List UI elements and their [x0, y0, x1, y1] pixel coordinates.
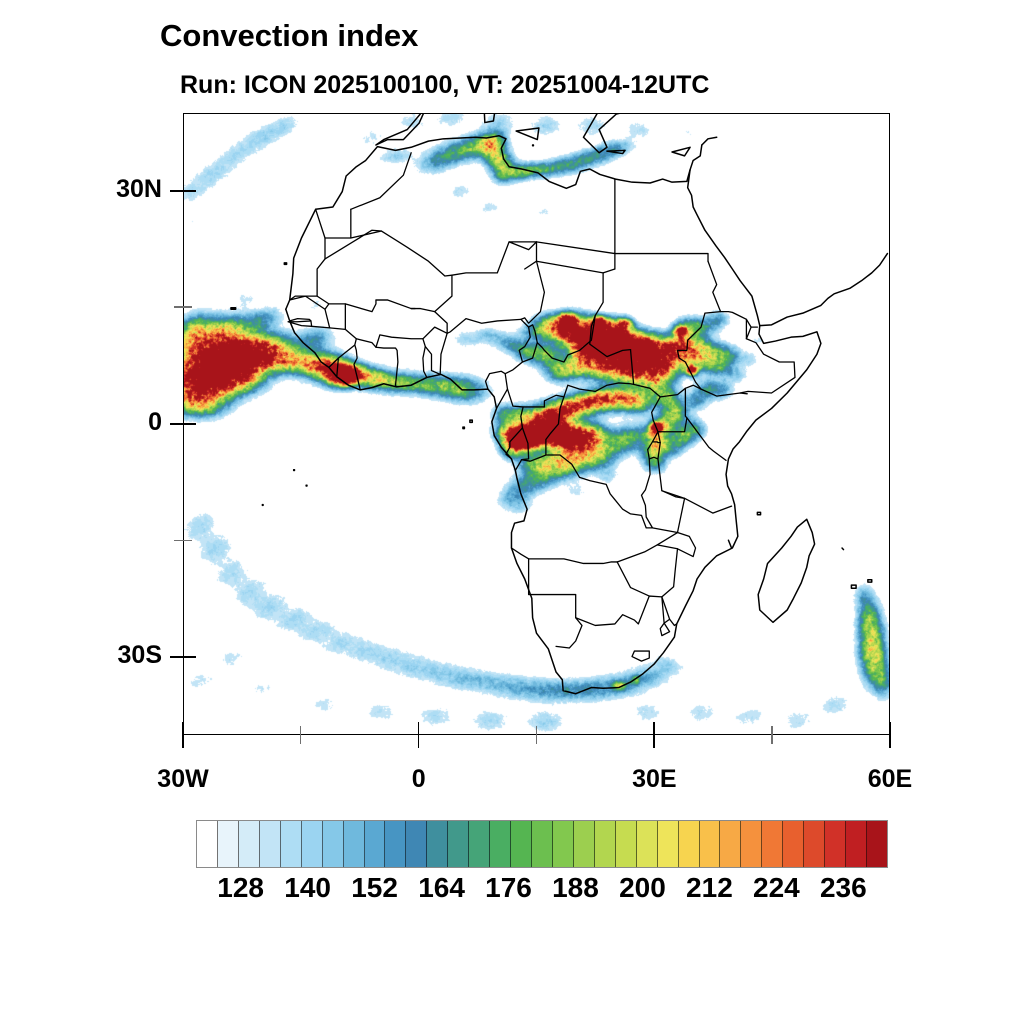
coastline-12: [484, 114, 495, 123]
coastline-paths: [231, 114, 887, 694]
colorbar-cell-28: [783, 821, 804, 867]
x-tick-inner-30W: [182, 722, 184, 735]
border-47: [290, 296, 329, 309]
border-50: [356, 339, 398, 387]
colorbar-cell-19: [595, 821, 616, 867]
coastline-1: [688, 170, 888, 326]
colorbar-label-212: 212: [686, 872, 733, 904]
coastline-22: [294, 470, 295, 471]
national-border-paths: [288, 153, 795, 661]
y-axis-label-30S: 30S: [42, 641, 162, 670]
border-48: [288, 309, 329, 328]
x-tick-inner-45: [771, 726, 773, 735]
border-18: [505, 350, 633, 407]
colorbar-cell-21: [637, 821, 658, 867]
border-39: [617, 545, 677, 597]
colorbar-cell-6: [323, 821, 344, 867]
border-8: [509, 242, 536, 250]
coastline-13: [533, 145, 534, 146]
border-30: [662, 491, 685, 499]
colorbar-label-236: 236: [820, 872, 867, 904]
x-tick-0: [418, 735, 420, 748]
colorbar-label-224: 224: [753, 872, 800, 904]
coastline-5: [231, 308, 236, 309]
coastline-21: [470, 420, 472, 422]
colorbar-cell-29: [804, 821, 825, 867]
coastline-4: [728, 540, 731, 548]
border-9: [537, 179, 615, 269]
coastline-15: [583, 114, 638, 153]
coastline-23: [262, 505, 263, 506]
coastline-18: [842, 548, 843, 550]
map-plot-area[interactable]: [183, 113, 890, 735]
colorbar-cell-32: [867, 821, 887, 867]
x-axis-label-30E: 30E: [589, 765, 719, 794]
border-56: [329, 358, 338, 367]
colorbar-cell-14: [490, 821, 511, 867]
coastline-9: [757, 512, 760, 514]
border-13: [521, 261, 595, 362]
colorbar-cell-10: [406, 821, 427, 867]
coastline-17: [702, 137, 717, 145]
border-14: [447, 319, 521, 334]
border-55: [337, 345, 355, 377]
colorbar-cell-16: [532, 821, 553, 867]
border-32: [678, 312, 721, 389]
coastline-3: [758, 519, 814, 622]
border-4: [325, 230, 381, 259]
coastline-6: [284, 263, 286, 264]
colorbar-label-128: 128: [217, 872, 264, 904]
colorbar-cell-0: [197, 821, 218, 867]
colorbar-cell-26: [741, 821, 762, 867]
colorbar-cell-2: [239, 821, 260, 867]
country-borders-overlay: [184, 114, 889, 734]
coastline-16: [607, 150, 625, 153]
border-24: [660, 385, 747, 397]
y-tick-0: [170, 423, 183, 425]
colorbar-cell-24: [700, 821, 721, 867]
border-51: [376, 335, 427, 378]
border-2: [351, 231, 452, 276]
x-tick--15: [300, 735, 302, 744]
colorbar-cell-23: [679, 821, 700, 867]
border-20: [497, 389, 508, 408]
x-tick-60E: [889, 735, 891, 748]
coastline-11: [516, 128, 539, 140]
colorbar-swatches[interactable]: [196, 820, 888, 868]
y-tick-30N: [170, 190, 183, 192]
x-tick-inner-0: [418, 722, 420, 735]
border-57: [311, 321, 312, 326]
colorbar-cell-7: [344, 821, 365, 867]
colorbar-cell-4: [281, 821, 302, 867]
y-tick-inner-30N: [183, 190, 196, 192]
colorbar-label-188: 188: [552, 872, 599, 904]
x-axis-label-0: 0: [354, 765, 484, 794]
coastline-2: [286, 309, 821, 693]
colorbar-label-140: 140: [284, 872, 331, 904]
colorbar-cell-13: [469, 821, 490, 867]
x-tick-inner-60E: [889, 722, 891, 735]
colorbar-cell-1: [218, 821, 239, 867]
coastline-7: [851, 585, 856, 588]
coastline-19: [306, 485, 307, 486]
colorbar-cell-20: [616, 821, 637, 867]
colorbar-tick-labels: 128140152164176188200212224236: [196, 872, 888, 912]
y-tick-inner-0: [183, 423, 196, 425]
colorbar-label-176: 176: [485, 872, 532, 904]
colorbar-cell-27: [762, 821, 783, 867]
colorbar-cell-3: [260, 821, 281, 867]
border-6: [452, 242, 537, 275]
colorbar-label-152: 152: [351, 872, 398, 904]
border-33: [740, 327, 795, 393]
colorbar-cell-22: [658, 821, 679, 867]
colorbar-cell-15: [511, 821, 532, 867]
border-0: [316, 209, 351, 238]
x-tick-30E: [653, 735, 655, 748]
border-1: [351, 153, 411, 210]
border-11: [537, 261, 615, 273]
border-52: [423, 327, 447, 339]
coastline-0: [286, 136, 702, 310]
border-45: [660, 623, 669, 635]
border-40: [657, 498, 684, 545]
y-axis-label-30N: 30N: [42, 175, 162, 204]
border-12: [590, 273, 631, 357]
x-tick-inner-15: [536, 726, 538, 735]
border-26: [687, 418, 726, 461]
x-tick-15: [536, 735, 538, 744]
colorbar-cell-5: [302, 821, 323, 867]
border-23: [546, 384, 660, 527]
colorbar-cell-25: [720, 821, 741, 867]
x-tick-45: [771, 735, 773, 744]
y-tick-15: [174, 306, 183, 308]
border-10: [615, 254, 708, 262]
border-38: [617, 562, 649, 596]
colorbar-cell-9: [385, 821, 406, 867]
x-tick-30W: [182, 735, 184, 748]
border-3: [290, 238, 325, 300]
border-49: [330, 328, 361, 390]
colorbar-cell-30: [825, 821, 846, 867]
border-16: [486, 327, 531, 389]
border-46: [288, 319, 311, 322]
colorbar-label-200: 200: [619, 872, 666, 904]
colorbar-cell-12: [448, 821, 469, 867]
y-tick-inner-15: [183, 306, 192, 308]
coastline-8: [868, 580, 872, 582]
page-subtitle: Run: ICON 2025100100, VT: 20251004-12UTC: [180, 71, 709, 100]
colorbar-cell-8: [365, 821, 386, 867]
border-29: [658, 459, 732, 513]
border-21: [506, 428, 522, 459]
coastline-20: [463, 427, 464, 429]
colorbar-label-164: 164: [418, 872, 465, 904]
border-53: [425, 347, 440, 375]
colorbar-cell-31: [846, 821, 867, 867]
x-tick-inner--15: [300, 726, 302, 735]
colorbar-cell-11: [427, 821, 448, 867]
y-tick-inner-30S: [183, 656, 196, 658]
border-5: [317, 296, 447, 333]
border-44: [632, 651, 649, 661]
x-axis-label-60E: 60E: [825, 765, 955, 794]
y-tick--15: [174, 540, 183, 542]
colorbar-cell-17: [553, 821, 574, 867]
border-41: [678, 533, 696, 557]
border-35: [511, 548, 617, 563]
border-42: [652, 528, 677, 533]
y-axis-label-0: 0: [42, 408, 162, 437]
y-tick-30S: [170, 656, 183, 658]
coastline-14: [672, 147, 690, 156]
border-15: [440, 333, 447, 374]
colorbar[interactable]: 128140152164176188200212224236: [196, 820, 888, 868]
x-axis-label-30W: 30W: [118, 765, 248, 794]
colorbar-cell-18: [574, 821, 595, 867]
page-title: Convection index: [160, 18, 418, 54]
border-7: [435, 275, 452, 311]
x-tick-inner-30E: [653, 722, 655, 735]
y-tick-inner--15: [183, 540, 192, 542]
